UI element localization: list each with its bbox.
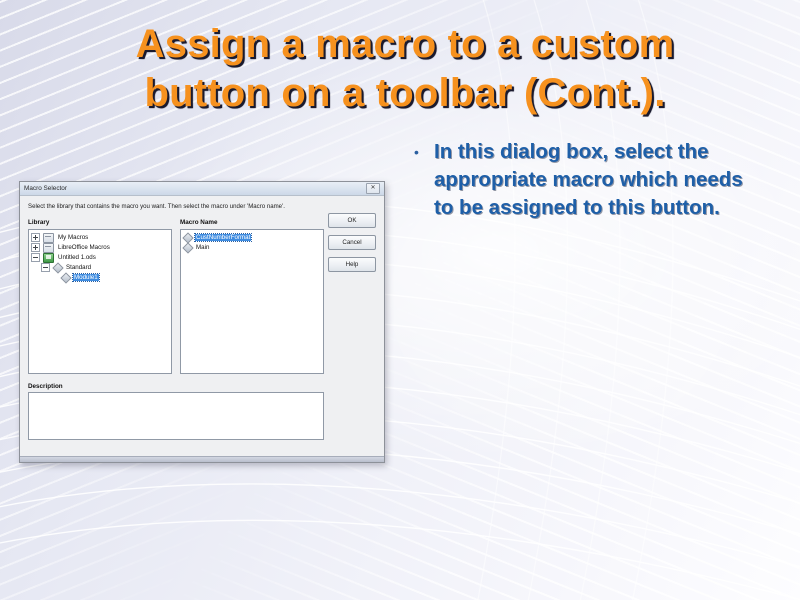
tree-item-label-selected: Module1 — [73, 274, 99, 281]
module-icon — [183, 234, 192, 242]
library-column: Library My Macros LibreOffice Macros — [28, 219, 172, 374]
bullet-marker-icon: • — [408, 138, 434, 166]
macro-list-item-label: Main — [195, 244, 210, 251]
tree-item-module1[interactable]: Module1 — [31, 273, 169, 283]
tree-item-label: My Macros — [57, 234, 89, 241]
macro-name-column: Macro Name CustNumberFormat Main — [180, 219, 324, 374]
macro-list-item-label-selected: CustNumberFormat — [195, 234, 251, 241]
tree-item-label: LibreOffice Macros — [57, 244, 111, 251]
expander-minus-icon[interactable] — [31, 253, 40, 262]
close-icon[interactable]: ✕ — [366, 183, 380, 194]
dialog-body: Select the library that contains the mac… — [20, 196, 384, 456]
macro-name-list[interactable]: CustNumberFormat Main — [180, 229, 324, 374]
module-icon — [53, 264, 62, 272]
expander-plus-icon[interactable] — [31, 233, 40, 242]
tree-item-label: Untitled 1.ods — [57, 254, 97, 261]
slide-title: Assign a macro to a custom button on a t… — [60, 20, 750, 118]
folder-icon — [43, 233, 54, 243]
bullet-text: In this dialog box, select the appropria… — [434, 138, 758, 222]
description-label: Description — [28, 383, 376, 390]
dialog-columns: Library My Macros LibreOffice Macros — [28, 219, 324, 374]
library-label: Library — [28, 219, 172, 226]
bullet-list: • In this dialog box, select the appropr… — [408, 138, 758, 222]
dialog-title: Macro Selector — [24, 185, 366, 192]
tree-item-standard[interactable]: Standard — [31, 263, 169, 273]
module-icon — [183, 244, 192, 252]
dialog-footer-strip — [20, 456, 384, 462]
ok-button[interactable]: OK — [328, 213, 376, 228]
expander-minus-icon[interactable] — [41, 263, 50, 272]
expander-plus-icon[interactable] — [31, 243, 40, 252]
dialog-titlebar[interactable]: Macro Selector ✕ — [20, 182, 384, 196]
library-tree[interactable]: My Macros LibreOffice Macros Untitled 1.… — [28, 229, 172, 374]
tree-item-my-macros[interactable]: My Macros — [31, 233, 169, 243]
help-button[interactable]: Help — [328, 257, 376, 272]
macro-name-label: Macro Name — [180, 219, 324, 226]
description-box[interactable] — [28, 392, 324, 440]
spreadsheet-icon — [43, 253, 54, 263]
slide-canvas: Assign a macro to a custom button on a t… — [0, 0, 800, 600]
folder-icon — [43, 243, 54, 253]
dialog-button-column: OK Cancel Help — [328, 213, 376, 272]
tree-item-libreoffice-macros[interactable]: LibreOffice Macros — [31, 243, 169, 253]
macro-selector-dialog: Macro Selector ✕ Select the library that… — [19, 181, 385, 463]
dialog-instruction: Select the library that contains the mac… — [28, 203, 376, 210]
cancel-button[interactable]: Cancel — [328, 235, 376, 250]
macro-list-item-custnumberformat[interactable]: CustNumberFormat — [183, 233, 321, 243]
macro-list-item-main[interactable]: Main — [183, 243, 321, 253]
tree-item-label: Standard — [65, 264, 92, 271]
module-icon — [61, 274, 70, 282]
tree-item-untitled-ods[interactable]: Untitled 1.ods — [31, 253, 169, 263]
bullet-item: • In this dialog box, select the appropr… — [408, 138, 758, 222]
